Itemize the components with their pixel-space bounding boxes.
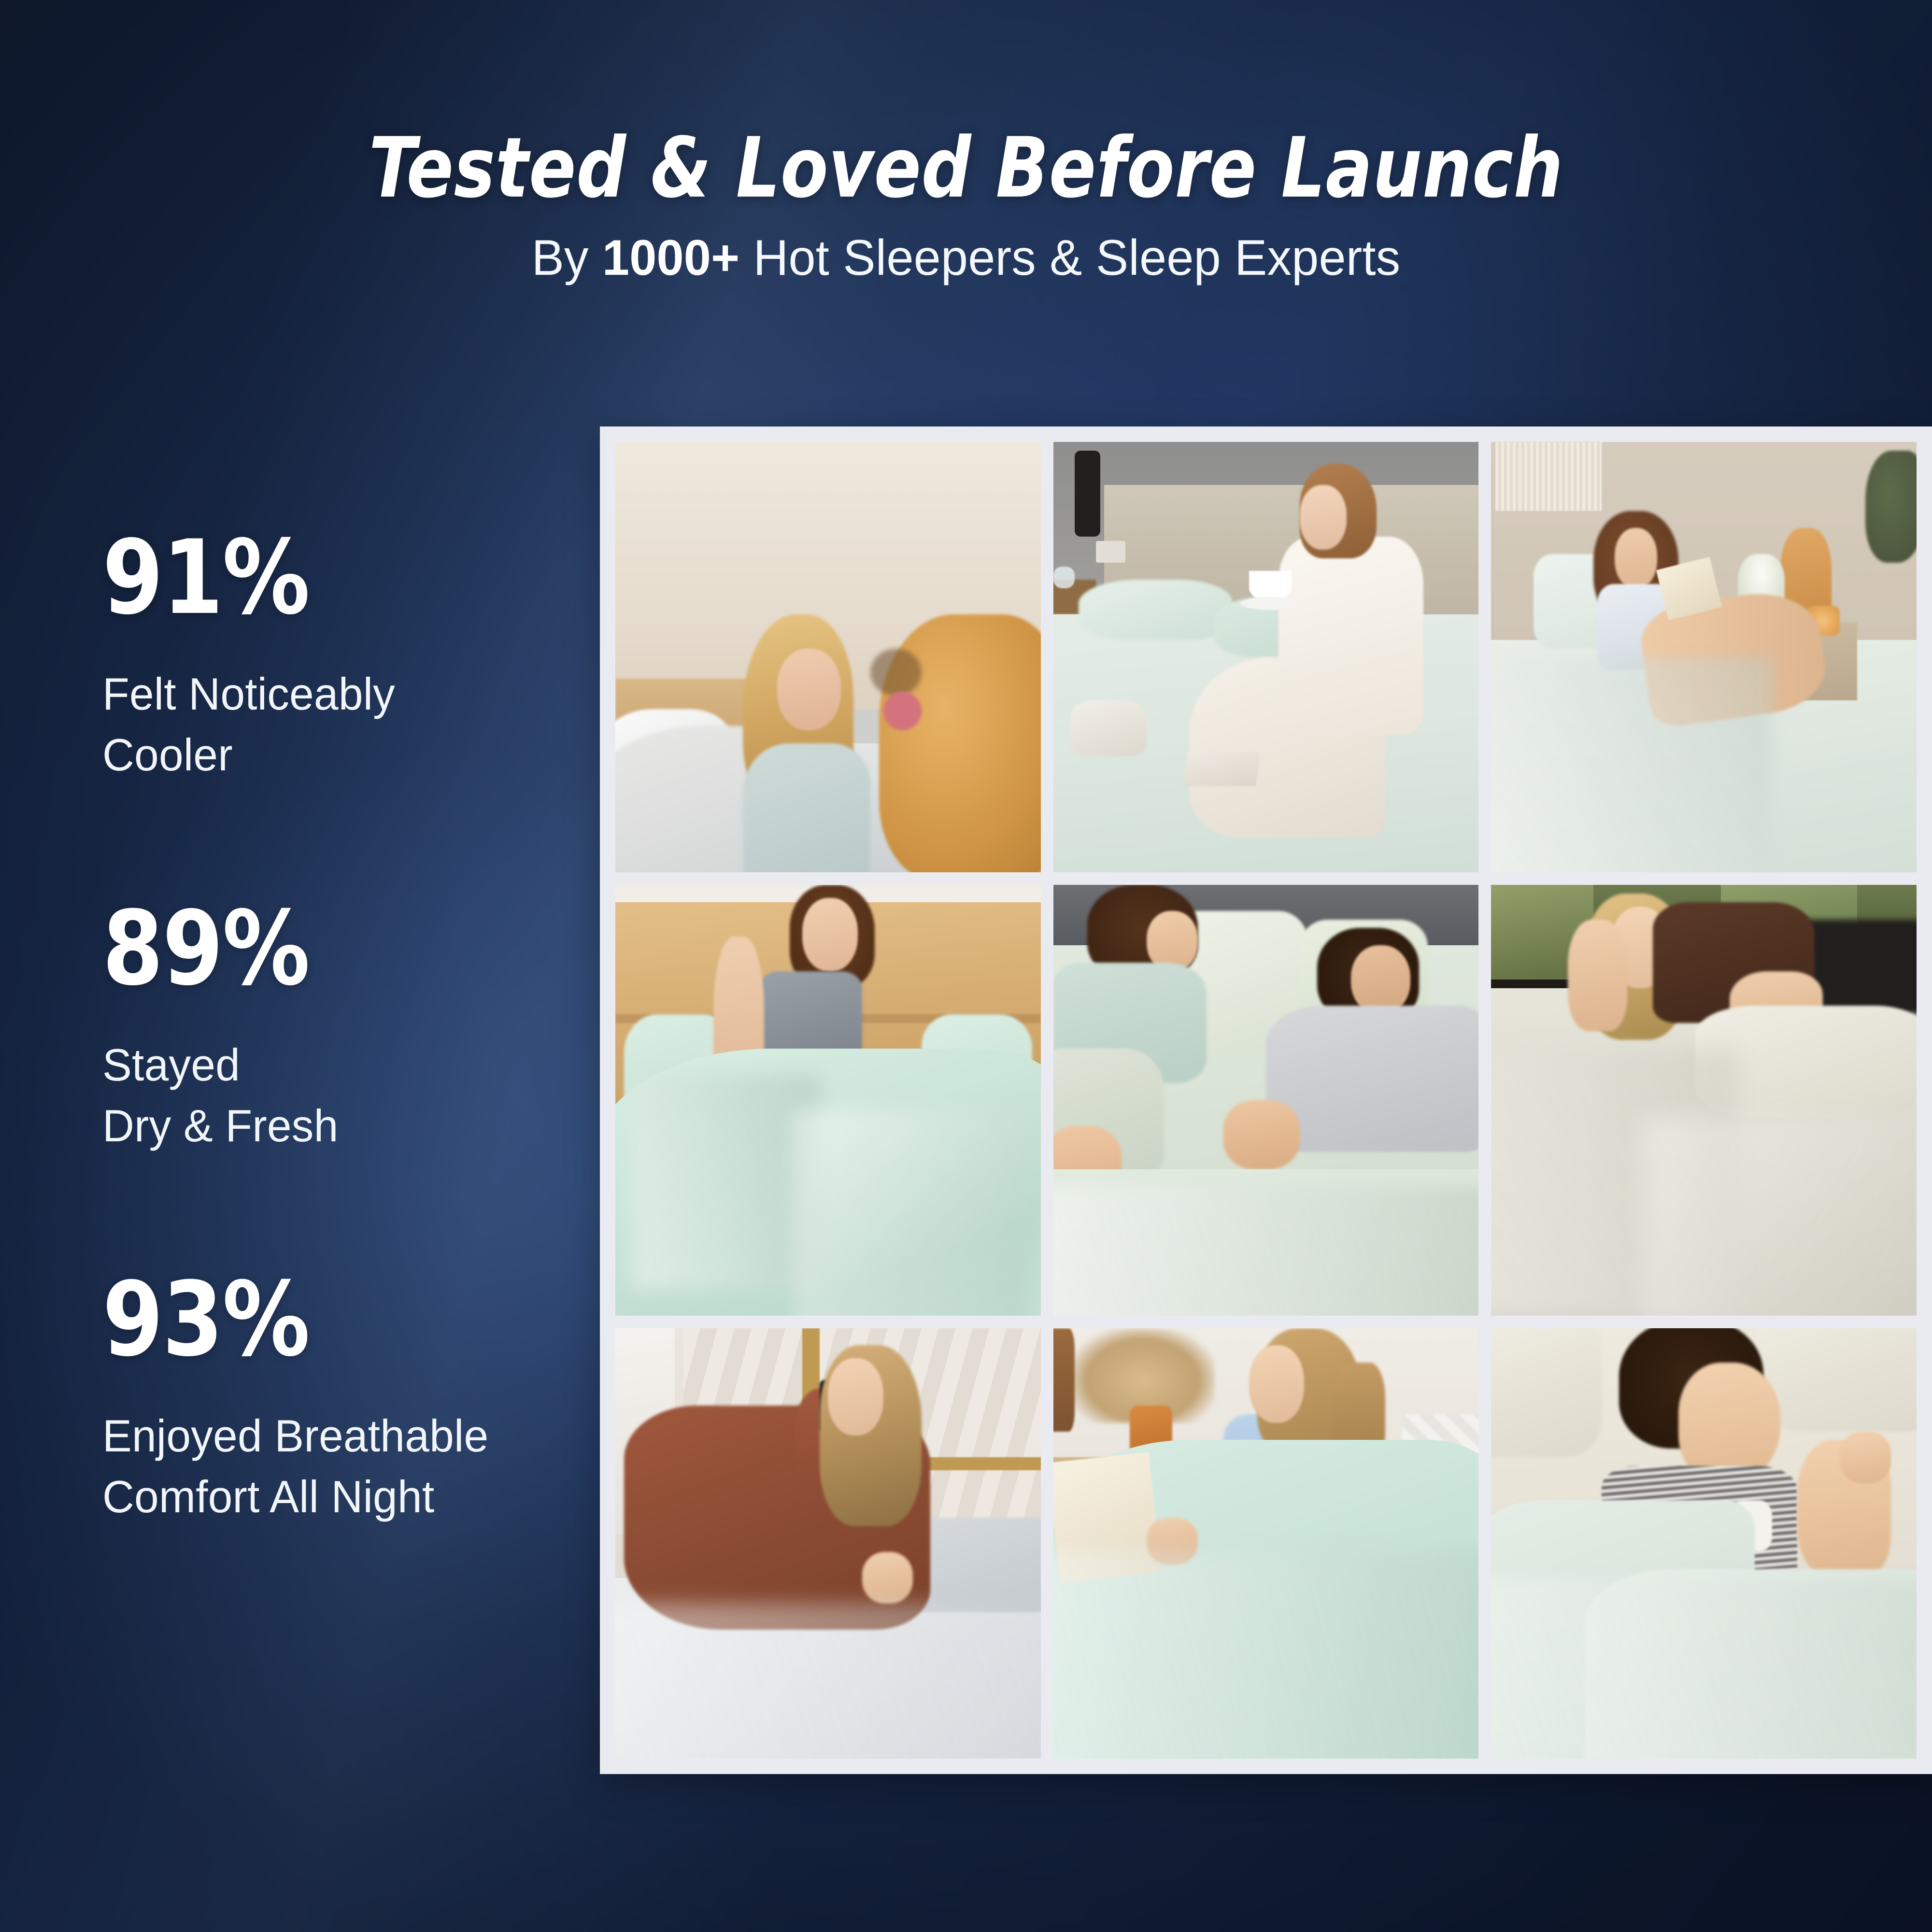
photo-tile-woman-peace-sign (615, 885, 1041, 1315)
photo-tile-blonde-on-pillow (1491, 885, 1917, 1315)
stat-item-breathable: 93% Enjoyed Breathable Comfort All Night (102, 1268, 610, 1527)
subtitle-prefix: By (532, 230, 602, 286)
photo-tile-two-children (1053, 885, 1479, 1315)
stat-label: Felt Noticeably Cooler (102, 664, 595, 785)
stat-label-line-2: Comfort All Night (102, 1466, 595, 1527)
page-subtitle: By 1000+ Hot Sleepers & Sleep Experts (29, 229, 1903, 287)
photo-tile-woman-on-phone (615, 1328, 1041, 1759)
photo-tile-woman-with-dog (615, 442, 1041, 872)
stat-label: Enjoyed Breathable Comfort All Night (102, 1406, 595, 1527)
photo-grid (615, 442, 1917, 1759)
photo-tile-woman-with-teacup (1053, 442, 1479, 872)
stat-label-line-2: Cooler (102, 724, 595, 785)
photo-tile-woman-reading-book (1053, 1328, 1479, 1759)
stat-label-line-1: Felt Noticeably (102, 664, 595, 724)
stat-value: 93% (102, 1268, 584, 1371)
photo-tile-sleeping-baby (1491, 1328, 1917, 1759)
page-title: Tested & Loved Before Launch (68, 126, 1864, 210)
subtitle-suffix: Hot Sleepers & Sleep Experts (739, 230, 1400, 286)
stat-label: Stayed Dry & Fresh (102, 1035, 595, 1156)
subtitle-count: 1000+ (602, 230, 739, 286)
stat-item-cooler: 91% Felt Noticeably Cooler (102, 526, 610, 785)
stat-item-dry-fresh: 89% Stayed Dry & Fresh (102, 897, 610, 1156)
photo-grid-frame (600, 426, 1932, 1774)
stat-value: 91% (102, 526, 584, 629)
stat-label-line-1: Enjoyed Breathable (102, 1406, 595, 1466)
stats-column: 91% Felt Noticeably Cooler 89% Stayed Dr… (102, 526, 610, 1527)
photo-tile-curly-woman-reading (1491, 442, 1917, 872)
stat-label-line-1: Stayed (102, 1035, 595, 1095)
stat-label-line-2: Dry & Fresh (102, 1095, 595, 1156)
stat-value: 89% (102, 897, 584, 1000)
header: Tested & Loved Before Launch By 1000+ Ho… (0, 126, 1932, 287)
